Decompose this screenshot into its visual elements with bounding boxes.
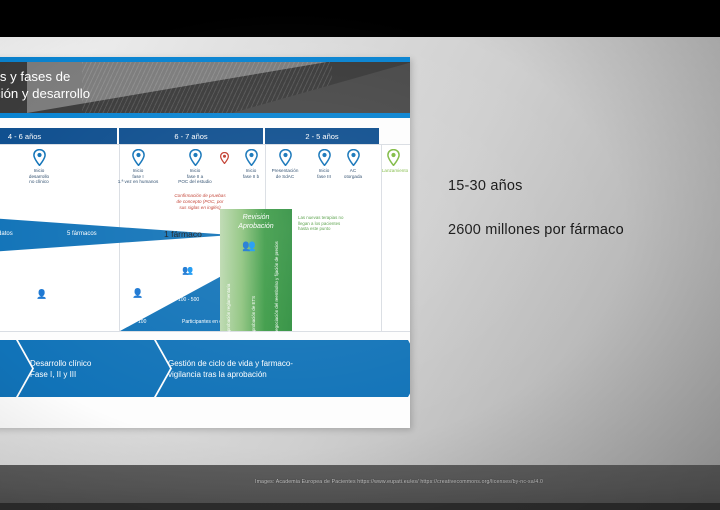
map-pin-icon — [189, 149, 202, 166]
poc-annotation: Confirmación de pruebas de concepto (POC… — [160, 193, 240, 210]
screen-capture: Decisiones y fases de investigación y de… — [0, 0, 720, 510]
pin-label: Inicio fase I 1.ª vez en humanos — [115, 168, 161, 185]
map-pin-icon — [318, 149, 331, 166]
people-group-icon: 👥 — [242, 239, 255, 252]
people-icon: 👥 — [182, 265, 192, 276]
funnel-value: 5 fármacos — [67, 231, 97, 237]
duration-text: 15-30 años — [448, 178, 523, 194]
slide-title: Decisiones y fases de investigación y de… — [0, 68, 90, 102]
pin-label: AC otorgada — [330, 168, 376, 179]
phase-chevron-lifecycle: Gestión de ciclo de vida y farmaco- vigi… — [156, 340, 410, 397]
approval-vlabel: Aprobación de ETS — [251, 296, 256, 334]
pin-label: Presentación de SdAC — [262, 168, 308, 179]
cost-text: 2600 millones por fármaco — [448, 222, 624, 238]
map-pin-icon — [279, 149, 292, 166]
participants-range: 100 - 500 — [178, 297, 199, 303]
pin-label: Inicio fase II a POC del estudio — [172, 168, 218, 185]
funnel-value: 250 candidatos — [0, 231, 13, 237]
approval-vlabel: Aprobación reglamentaria — [226, 284, 231, 334]
header-shape-2 — [232, 62, 410, 113]
approval-title: Revisión Aprobación — [220, 213, 292, 231]
pin-label: Inicio desarrollo no clínico — [16, 168, 62, 185]
green-annotation: Las nuevas terapias no llegan a los paci… — [298, 215, 370, 232]
bottom-edge — [0, 503, 720, 510]
map-pin-icon — [245, 149, 258, 166]
top-black-bar — [0, 0, 720, 37]
person-icon: 👤 — [132, 288, 142, 299]
participants-range: 20 - 100 — [128, 319, 146, 325]
map-pin-icon-launch — [387, 149, 400, 166]
image-credit: Images: Academia Europea de Pacientes ht… — [255, 479, 655, 485]
map-pin-icon-poc — [220, 152, 229, 164]
slide-header: Decisiones y fases de investigación y de… — [0, 57, 410, 118]
year-bar-clinical: 6 - 7 años — [119, 128, 263, 144]
funnel-value: 1 fármaco — [164, 229, 202, 239]
year-bar-approval: 2 - 5 años — [265, 128, 379, 144]
map-pin-icon — [132, 149, 145, 166]
person-icon: 👤 — [36, 289, 46, 300]
map-pin-icon — [33, 149, 46, 166]
infographic-slide: Decisiones y fases de investigación y de… — [0, 57, 410, 428]
year-bar-preclinical: 4 - 6 años — [0, 128, 117, 144]
approval-vlabel: Negociación del reembolso y fijación de … — [274, 241, 279, 334]
map-pin-icon — [347, 149, 360, 166]
pin-label: Lanzamiento — [372, 168, 410, 174]
phase-chevron-clinical: Desarrollo clínico Fase I, II y III — [18, 340, 170, 397]
